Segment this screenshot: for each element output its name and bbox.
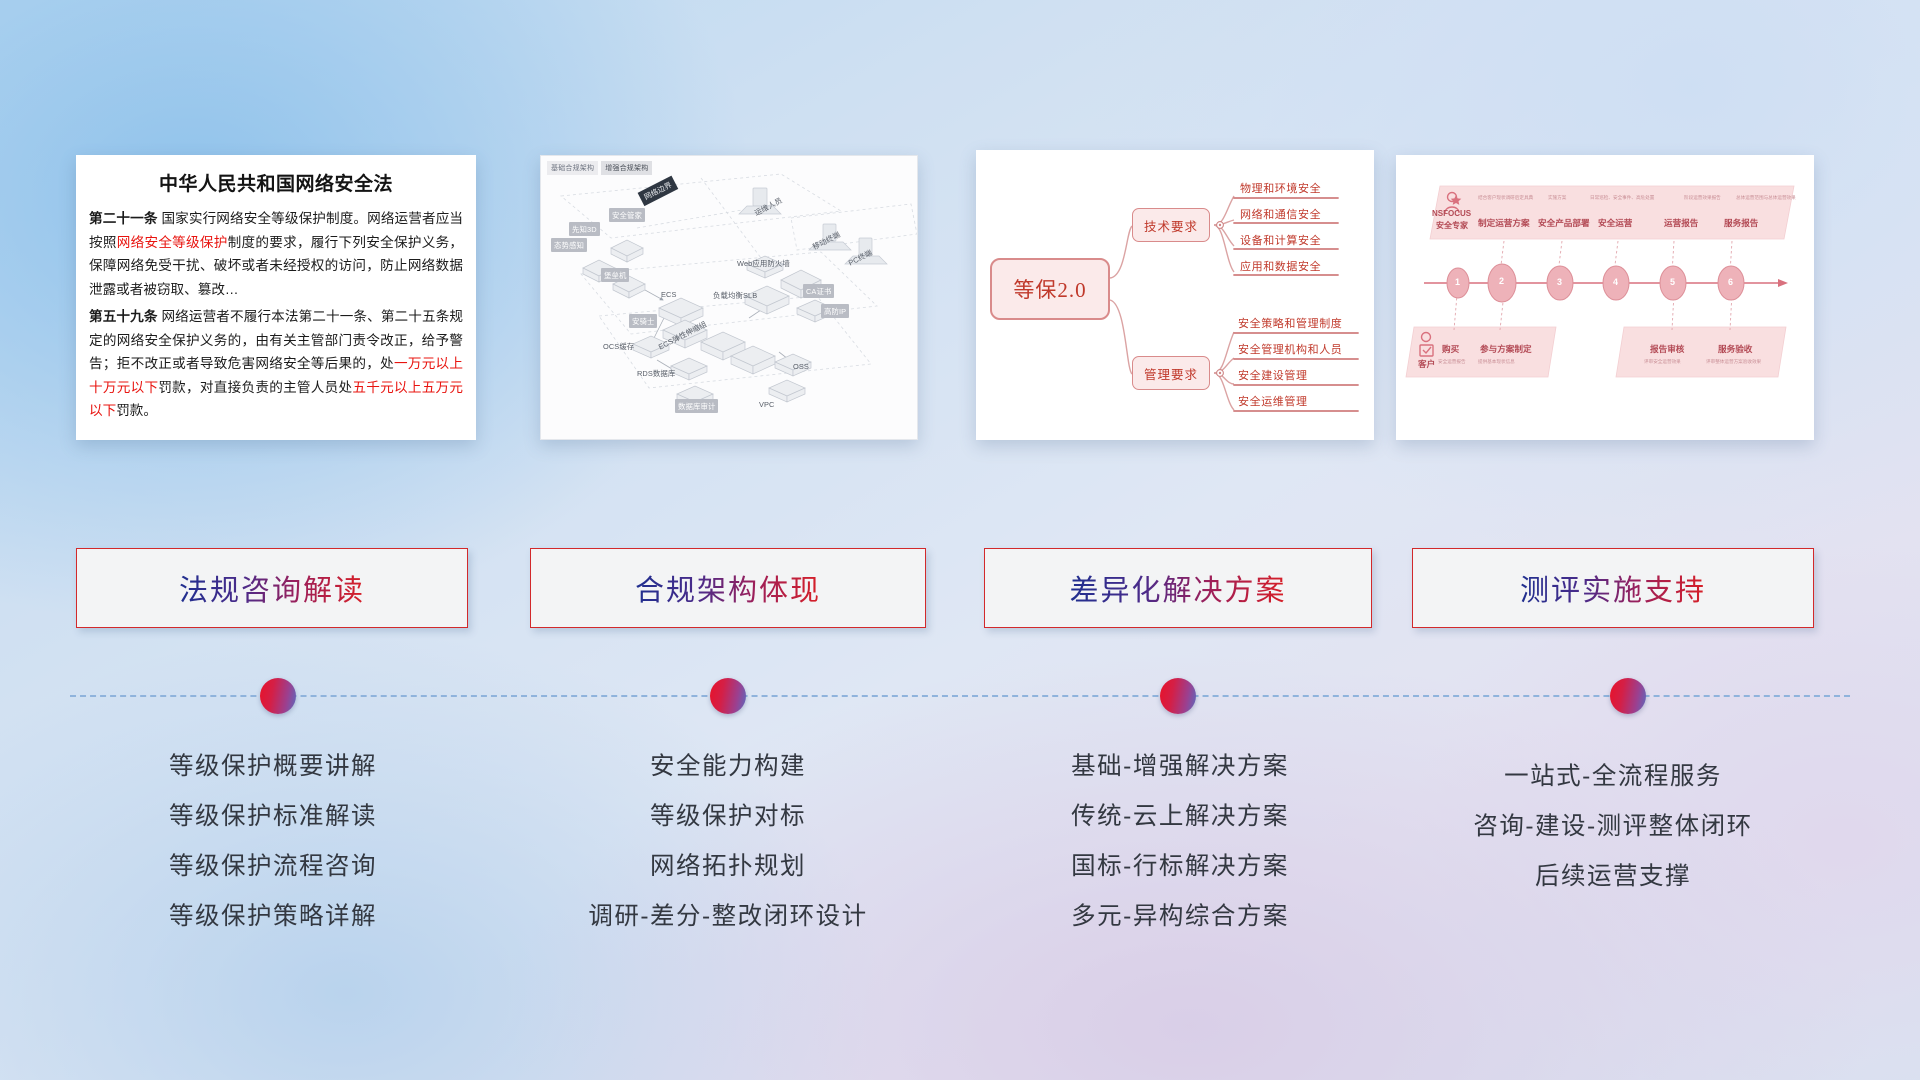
section-item-lists: 等级保护概要讲解 等级保护标准解读 等级保护流程咨询 等级保护策略详解 安全能力… — [0, 0, 1920, 1080]
list-item: 等级保护概要讲解 — [75, 742, 471, 792]
item-list-2: 安全能力构建 等级保护对标 网络拓扑规划 调研-差分-整改闭环设计 — [530, 742, 926, 942]
list-item: 等级保护对标 — [530, 792, 926, 842]
item-list-1: 等级保护概要讲解 等级保护标准解读 等级保护流程咨询 等级保护策略详解 — [75, 742, 471, 942]
list-item: 网络拓扑规划 — [530, 842, 926, 892]
item-list-4: 一站式-全流程服务 咨询-建设-测评整体闭环 后续运营支撑 — [1412, 752, 1814, 902]
list-item: 调研-差分-整改闭环设计 — [530, 892, 926, 942]
list-item: 等级保护策略详解 — [75, 892, 471, 942]
slide-canvas: 中华人民共和国网络安全法 第二十一条 国家实行网络安全等级保护制度。网络运营者应… — [0, 0, 1920, 1080]
list-item: 咨询-建设-测评整体闭环 — [1412, 802, 1814, 852]
list-item: 多元-异构综合方案 — [984, 892, 1376, 942]
list-item: 等级保护标准解读 — [75, 792, 471, 842]
list-item: 国标-行标解决方案 — [984, 842, 1376, 892]
list-item: 传统-云上解决方案 — [984, 792, 1376, 842]
list-item: 后续运营支撑 — [1412, 852, 1814, 902]
list-item: 一站式-全流程服务 — [1412, 752, 1814, 802]
list-item: 基础-增强解决方案 — [984, 742, 1376, 792]
list-item: 安全能力构建 — [530, 742, 926, 792]
list-item: 等级保护流程咨询 — [75, 842, 471, 892]
item-list-3: 基础-增强解决方案 传统-云上解决方案 国标-行标解决方案 多元-异构综合方案 — [984, 742, 1376, 942]
